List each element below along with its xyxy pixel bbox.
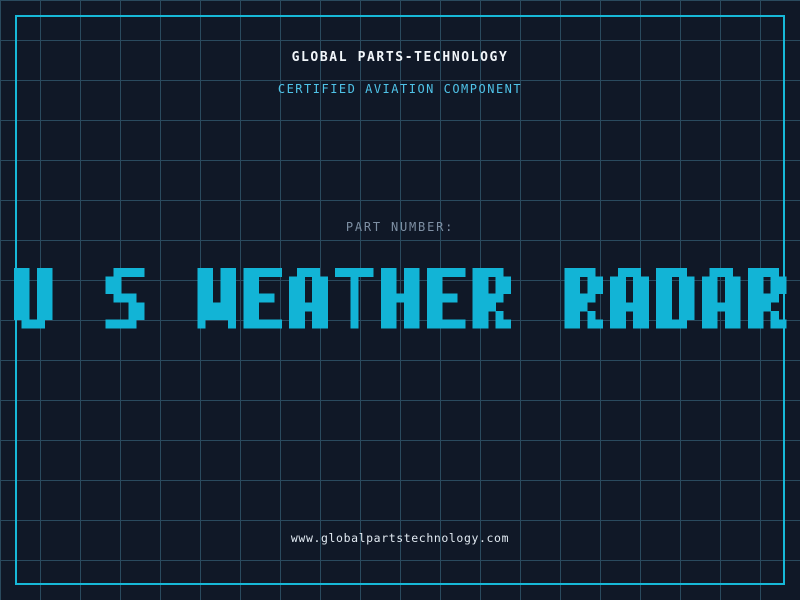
- website-url: www.globalpartstechnology.com: [0, 531, 800, 545]
- company-name: GLOBAL PARTS-TECHNOLOGY: [0, 50, 800, 65]
- certification-line: CERTIFIED AVIATION COMPONENT: [0, 82, 800, 96]
- part-number-value: [14, 268, 786, 328]
- blueprint-plate: GLOBAL PARTS-TECHNOLOGY CERTIFIED AVIATI…: [0, 0, 800, 600]
- plate-content: GLOBAL PARTS-TECHNOLOGY CERTIFIED AVIATI…: [0, 0, 800, 600]
- part-number-label: PART NUMBER:: [0, 220, 800, 234]
- part-number-bitmap: [14, 268, 786, 328]
